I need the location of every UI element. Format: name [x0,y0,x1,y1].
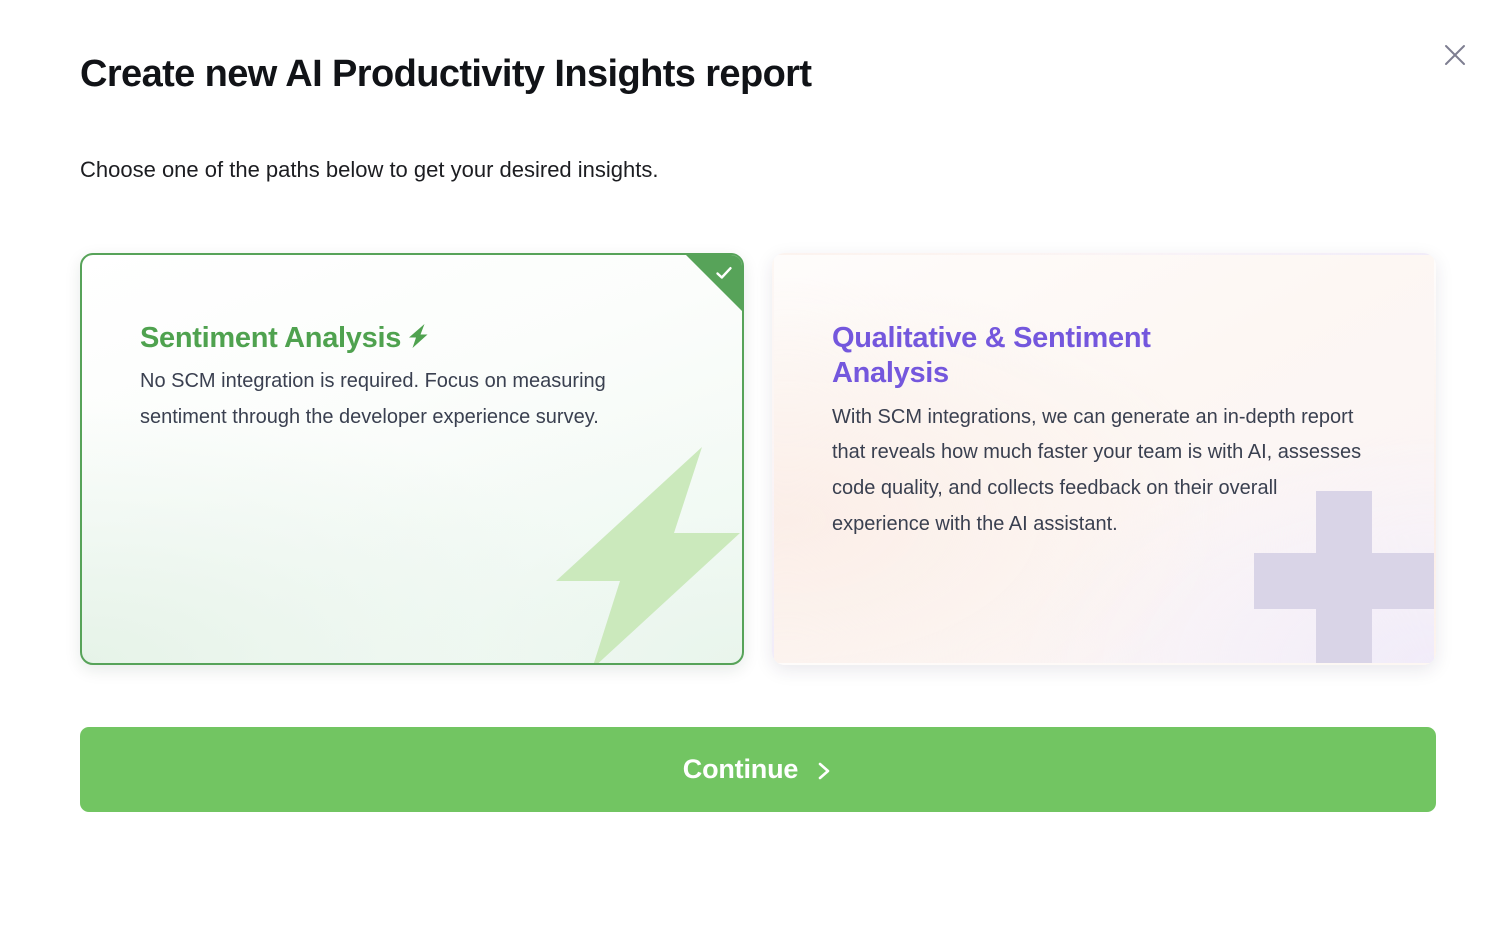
option-card-sentiment-analysis[interactable]: Sentiment Analysis No SCM integration is… [80,253,744,665]
page-subtitle: Choose one of the paths below to get you… [80,156,658,185]
card-description: With SCM integrations, we can generate a… [832,400,1362,542]
lightning-bolt-icon [407,323,429,349]
chevron-right-icon [816,759,833,783]
page-title: Create new AI Productivity Insights repo… [80,52,811,98]
card-description: No SCM integration is required. Focus on… [140,364,640,435]
create-report-modal: Create new AI Productivity Insights repo… [0,0,1512,936]
path-options-group: Sentiment Analysis No SCM integration is… [80,253,1436,665]
card-heading: Qualitative & Sentiment Analysis [832,321,1272,392]
option-card-qualitative-sentiment-analysis[interactable]: Qualitative & Sentiment Analysis With SC… [772,253,1436,665]
close-button[interactable] [1438,38,1472,72]
card-body: Qualitative & Sentiment Analysis With SC… [774,255,1434,542]
continue-button-label: Continue [683,754,798,785]
card-body: Sentiment Analysis No SCM integration is… [82,255,742,436]
continue-button[interactable]: Continue [80,727,1436,812]
card-heading-text: Qualitative & Sentiment Analysis [832,321,1272,392]
lightning-bolt-decoration-icon [534,429,744,665]
close-icon [1442,42,1468,68]
card-heading: Sentiment Analysis [140,321,702,356]
card-heading-text: Sentiment Analysis [140,321,401,356]
